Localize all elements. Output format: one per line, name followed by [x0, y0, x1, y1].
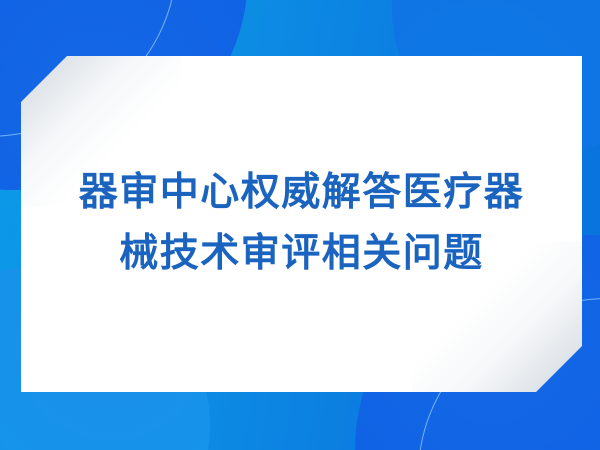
headline-line-2: 械技术审评相关问题 — [119, 234, 484, 275]
white-content-card: 器审中心权威解答医疗器 械技术审评相关问题 — [21, 56, 582, 392]
headline-block: 器审中心权威解答医疗器 械技术审评相关问题 — [21, 56, 582, 392]
poster-banner: 器审中心权威解答医疗器 械技术审评相关问题 — [0, 0, 600, 450]
headline-line-1: 器审中心权威解答医疗器 — [79, 173, 525, 214]
